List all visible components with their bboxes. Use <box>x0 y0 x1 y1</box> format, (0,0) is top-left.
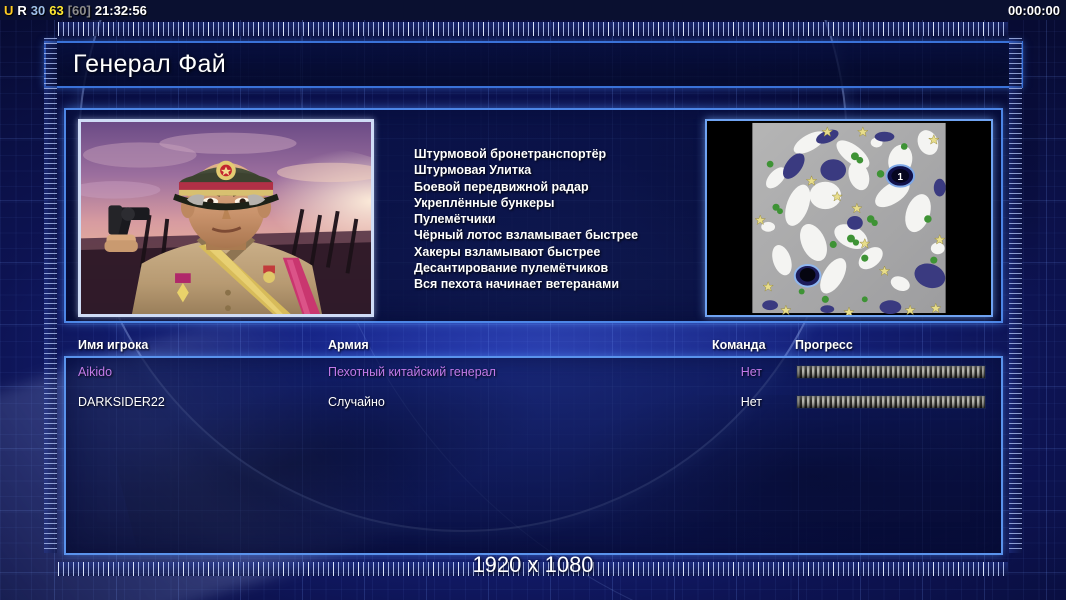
table-row[interactable]: Aikido Пехотный китайский генерал Нет <box>66 362 1001 385</box>
brand-letter-u: U <box>4 3 13 18</box>
top-status-bar: UR 30 63 [60] 21:32:56 00:00:00 <box>0 0 1066 20</box>
general-info-panel: Штурмовой бронетранспортёр Штурмовая Ули… <box>64 108 1003 323</box>
column-header-name: Имя игрока <box>78 338 148 352</box>
column-header-team: Команда <box>712 338 766 352</box>
ability-item: Боевой передвижной радар <box>414 179 704 195</box>
player-team[interactable]: Нет <box>674 365 762 379</box>
player-army[interactable]: Случайно <box>328 395 385 409</box>
general-abilities-list: Штурмовой бронетранспортёр Штурмовая Ули… <box>414 146 704 293</box>
player-progress-bar <box>796 365 986 379</box>
map-preview[interactable]: 1 <box>705 119 993 317</box>
player-army[interactable]: Пехотный китайский генерал <box>328 365 496 379</box>
general-portrait <box>78 119 374 317</box>
ability-item: Чёрный лотос взламывает быстрее <box>414 227 704 243</box>
system-clock: 21:32:56 <box>95 3 147 18</box>
table-row[interactable]: DARKSIDER22 Случайно Нет <box>66 392 1001 415</box>
resolution-label: 1920 x 1080 <box>0 552 1066 578</box>
ability-item: Штурмовой бронетранспортёр <box>414 146 704 162</box>
ability-item: Пулемётчики <box>414 211 704 227</box>
match-timer: 00:00:00 <box>1008 3 1066 18</box>
ability-item: Хакеры взламывают быстрее <box>414 244 704 260</box>
ping-value: 63 <box>49 3 63 18</box>
player-team[interactable]: Нет <box>674 395 762 409</box>
player-list-header: Имя игрока Армия Команда Прогресс <box>64 338 1003 356</box>
ability-item: Укреплённые бункеры <box>414 195 704 211</box>
page-title: Генерал Фай <box>46 50 226 79</box>
status-left-group: UR 30 63 [60] 21:32:56 <box>0 3 147 18</box>
ability-item: Штурмовая Улитка <box>414 162 704 178</box>
column-header-army: Армия <box>328 338 369 352</box>
spawn-marker-label: 1 <box>898 172 904 183</box>
player-progress-bar <box>796 395 986 409</box>
player-name[interactable]: DARKSIDER22 <box>78 395 165 409</box>
column-header-progress: Прогресс <box>795 338 853 352</box>
player-list-panel: Aikido Пехотный китайский генерал Нет DA… <box>64 356 1003 555</box>
brand-letter-r: R <box>17 3 26 18</box>
level-value: 30 <box>31 3 45 18</box>
ability-item: Вся пехота начинает ветеранами <box>414 276 704 292</box>
player-name[interactable]: Aikido <box>78 365 112 379</box>
title-panel: Генерал Фай <box>44 41 1023 88</box>
ping-reference: [60] <box>68 3 91 18</box>
game-lobby-screen: UR 30 63 [60] 21:32:56 00:00:00 Генерал … <box>0 0 1066 600</box>
ability-item: Десантирование пулемётчиков <box>414 260 704 276</box>
